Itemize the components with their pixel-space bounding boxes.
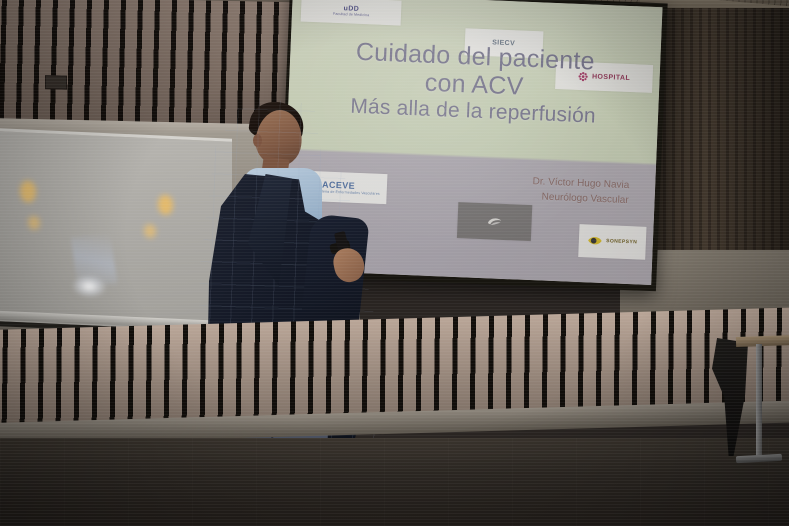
sonepsyn-logo: SONEPSYN <box>578 224 646 260</box>
light-reflection <box>144 224 156 239</box>
slide-author-block: Dr. Víctor Hugo Navia Neurólogo Vascular <box>407 169 630 208</box>
sonepsyn-logo-label: SONEPSYN <box>606 238 637 245</box>
floor <box>0 438 789 526</box>
udd-logo: uDD Facultad de Medicina <box>301 0 402 26</box>
light-reflection <box>158 194 173 215</box>
light-reflection <box>20 180 36 203</box>
lecture-hall-photo: uDD Facultad de Medicina SIECV <box>0 0 789 526</box>
table-top <box>736 335 789 347</box>
alace-logo <box>457 202 532 241</box>
wall-vent <box>45 75 67 89</box>
swirl-icon <box>485 214 504 229</box>
light-reflection <box>28 216 40 231</box>
udd-logo-sublabel: Facultad de Medicina <box>333 12 369 17</box>
table-leg <box>756 344 762 460</box>
camera-flash-flare <box>72 275 106 299</box>
eye-swirl-icon <box>587 234 604 249</box>
